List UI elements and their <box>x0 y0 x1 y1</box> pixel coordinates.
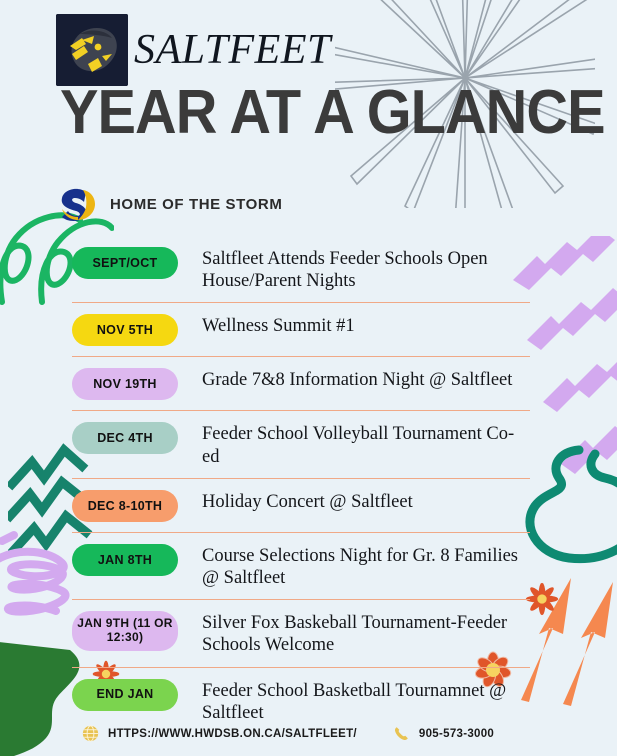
schedule-row: END JANFeeder School Basketball Tournamn… <box>72 668 530 734</box>
lavender-scribble-decoration <box>0 525 82 645</box>
event-description: Course Selections Night for Gr. 8 Famili… <box>202 542 530 589</box>
schedule-row: DEC 8-10THHoliday Concert @ Saltfleet <box>72 479 530 533</box>
event-description: Wellness Summit #1 <box>202 312 530 337</box>
date-pill: NOV 5TH <box>72 314 178 346</box>
schedule-row: JAN 9TH (11 OR 12:30)Silver Fox Baskebal… <box>72 600 530 667</box>
globe-icon <box>82 725 99 742</box>
schedule-row: DEC 4THFeeder School Volleyball Tourname… <box>72 411 530 478</box>
date-pill: JAN 9TH (11 OR 12:30) <box>72 611 178 651</box>
event-description: Feeder School Basketball Tournamnet @ Sa… <box>202 677 530 724</box>
storm-mascot-logo-icon <box>56 14 128 86</box>
footer-contact: HTTPS://WWW.HWDSB.ON.CA/SALTFLEET/ 905-5… <box>82 725 494 742</box>
schedule-row: NOV 19THGrade 7&8 Information Night @ Sa… <box>72 357 530 411</box>
schedule-list: SEPT/OCTSaltfleet Attends Feeder Schools… <box>72 236 530 734</box>
event-description: Saltfleet Attends Feeder Schools Open Ho… <box>202 245 530 292</box>
footer-phone[interactable]: 905-573-3000 <box>393 725 494 742</box>
school-wordmark: SALTFEET <box>134 29 331 71</box>
poster-canvas: SALTFEET YEAR AT A GLANCE HOME OF THE ST… <box>0 0 617 756</box>
tagline-bar: HOME OF THE STORM <box>56 183 282 225</box>
date-pill: SEPT/OCT <box>72 247 178 279</box>
event-description: Silver Fox Baskeball Tournament-Feeder S… <box>202 609 530 656</box>
date-pill: JAN 8TH <box>72 544 178 576</box>
date-pill: END JAN <box>72 679 178 711</box>
phone-number-text: 905-573-3000 <box>419 728 494 740</box>
event-description: Holiday Concert @ Saltfleet <box>202 488 530 513</box>
teal-loop-decoration <box>517 436 617 566</box>
date-pill: DEC 8-10TH <box>72 490 178 522</box>
flower-decoration <box>525 582 559 616</box>
schedule-row: JAN 8THCourse Selections Night for Gr. 8… <box>72 533 530 600</box>
event-description: Feeder School Volleyball Tournament Co-e… <box>202 420 530 467</box>
event-description: Grade 7&8 Information Night @ Saltfleet <box>202 366 530 391</box>
schedule-row: SEPT/OCTSaltfleet Attends Feeder Schools… <box>72 236 530 303</box>
page-title: YEAR AT A GLANCE <box>60 84 605 141</box>
schedule-row: NOV 5THWellness Summit #1 <box>72 303 530 357</box>
hwdsb-swirl-logo-icon <box>56 183 98 225</box>
website-url-text: HTTPS://WWW.HWDSB.ON.CA/SALTFLEET/ <box>108 728 357 740</box>
date-pill: DEC 4TH <box>72 422 178 454</box>
school-brand-header: SALTFEET <box>56 14 331 86</box>
phone-icon <box>393 725 410 742</box>
date-pill: NOV 19TH <box>72 368 178 400</box>
tagline-label: HOME OF THE STORM <box>110 196 282 213</box>
footer-website[interactable]: HTTPS://WWW.HWDSB.ON.CA/SALTFLEET/ <box>82 725 357 742</box>
